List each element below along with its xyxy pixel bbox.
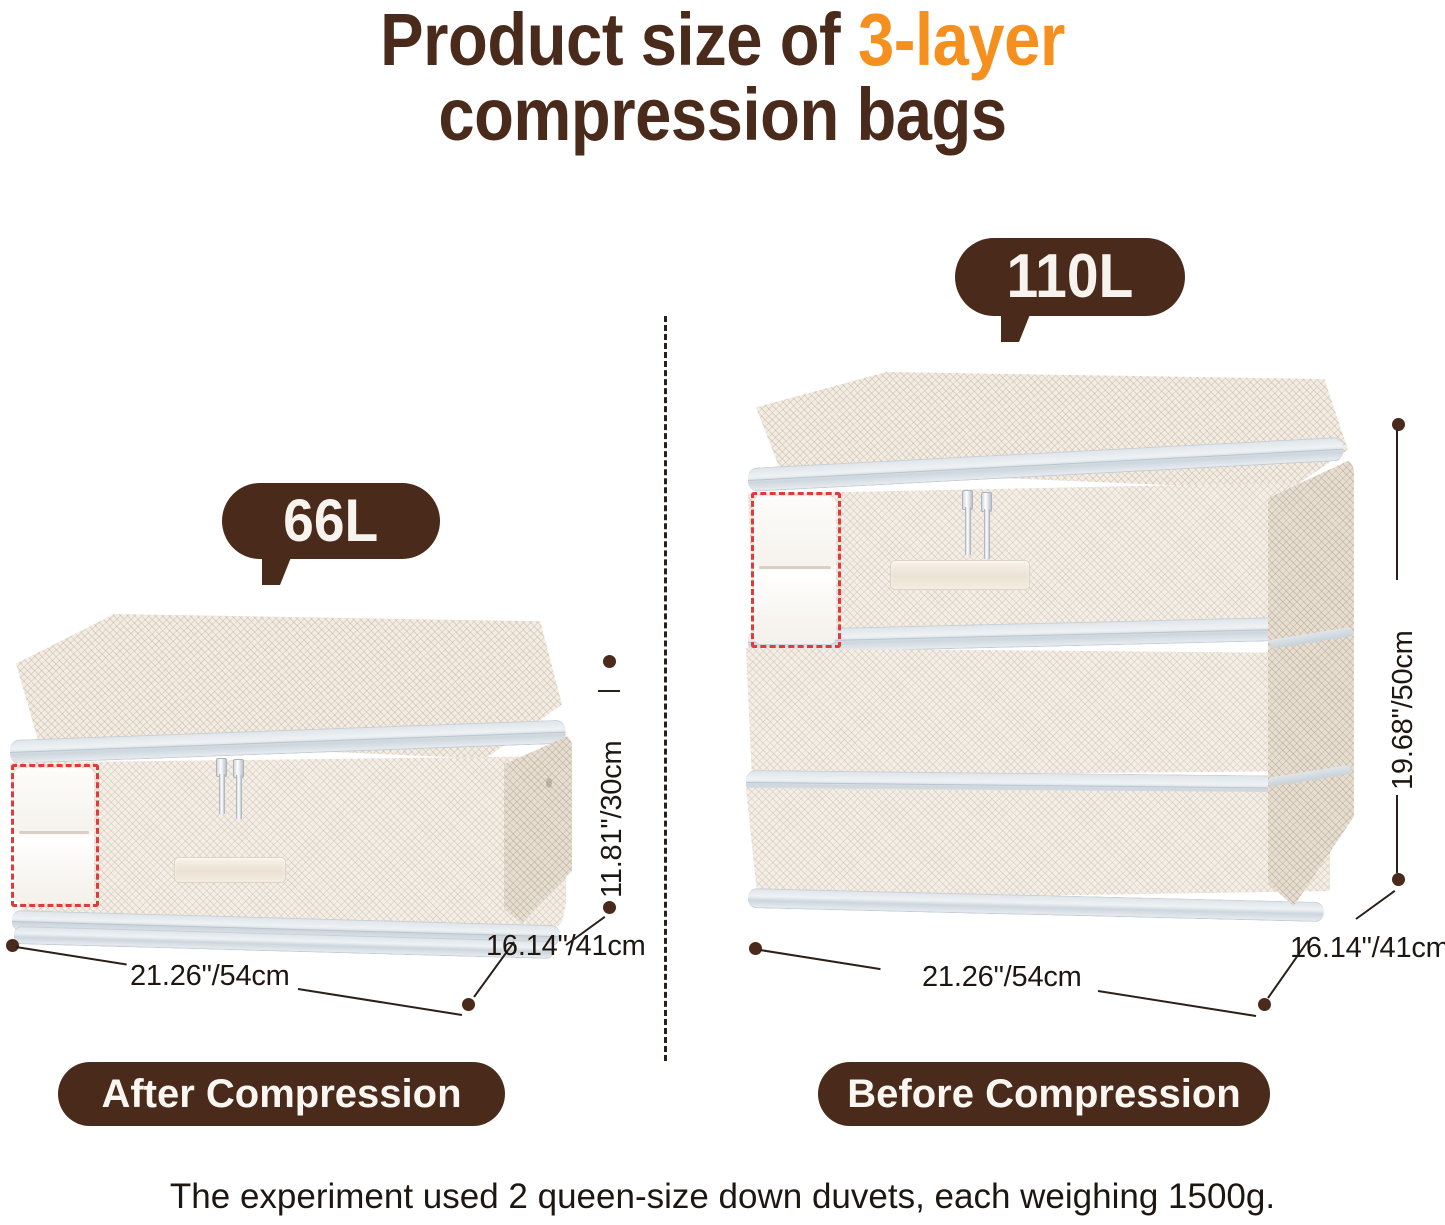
title-main-text: Product size of [380, 0, 858, 81]
bag-left-handle[interactable] [174, 857, 286, 883]
dim-right-height-leader [1355, 890, 1395, 920]
dim-right-height-bottom-dot [1392, 873, 1405, 886]
dim-right-depth-label: 16.14"/41cm [1290, 932, 1445, 965]
bag-left-vent-hole [546, 778, 552, 788]
page-title: Product size of 3-layer compression bags [0, 2, 1445, 153]
dim-right-height-label: 19.68"/50cm [1387, 630, 1420, 790]
bag-right-handle[interactable] [890, 560, 1030, 590]
dim-left-height-top-dot [603, 655, 616, 668]
bag-right-side-face [1268, 458, 1354, 906]
bag-left-zipper-tail-b [236, 775, 242, 819]
dim-right-width-label: 21.26"/54cm [922, 961, 1082, 994]
dim-right-height-line-bottom [1396, 795, 1398, 873]
caption-after-compression: After Compression [58, 1062, 505, 1126]
dim-left-height-label: 11.81"/30cm [596, 741, 629, 898]
bag-right-pocket-highlight [751, 492, 841, 648]
dim-left-height-bottom-dot [603, 901, 616, 914]
dim-left-width-end-dot [462, 998, 475, 1011]
title-accent-text: 3-layer [858, 0, 1065, 81]
dim-right-height-line-top [1396, 430, 1398, 580]
badge-110l: 110L [955, 238, 1185, 316]
title-line-1: Product size of 3-layer [87, 2, 1359, 77]
section-divider [664, 316, 667, 1061]
badge-66l: 66L [222, 483, 440, 559]
bag-right-layer-3-face [746, 788, 1330, 900]
dim-left-width-label: 21.26"/54cm [130, 960, 290, 993]
caption-before-label: Before Compression [847, 1072, 1240, 1117]
badge-110l-label: 110L [1007, 246, 1134, 308]
experiment-footnote: The experiment used 2 queen-size down du… [0, 1177, 1445, 1217]
product-bag-after-compression [8, 614, 578, 954]
product-bag-before-compression [740, 372, 1360, 932]
bag-right-layer-2-face [746, 648, 1332, 776]
dim-right-width-end-dot [1258, 998, 1271, 1011]
bag-left-zipper-tail-a [219, 774, 225, 814]
dim-left-depth-label: 16.14"/41cm [486, 930, 646, 963]
dim-right-width-line-b [1098, 990, 1256, 1017]
bag-right-seam-2-zipline [746, 782, 1330, 789]
bag-right-zipper-tail-b [984, 509, 990, 559]
dim-left-height-line-top [598, 690, 620, 692]
dim-right-width-line-a [760, 949, 881, 970]
caption-after-label: After Compression [101, 1072, 461, 1117]
bag-left-pocket-highlight [11, 764, 99, 907]
badge-66l-label: 66L [283, 491, 378, 551]
title-line-2: compression bags [87, 77, 1359, 152]
dim-left-width-line-b [298, 988, 462, 1016]
bag-right-zipper-tail-a [965, 507, 971, 555]
dim-right-height-top-dot [1392, 418, 1405, 431]
caption-before-compression: Before Compression [818, 1062, 1270, 1126]
